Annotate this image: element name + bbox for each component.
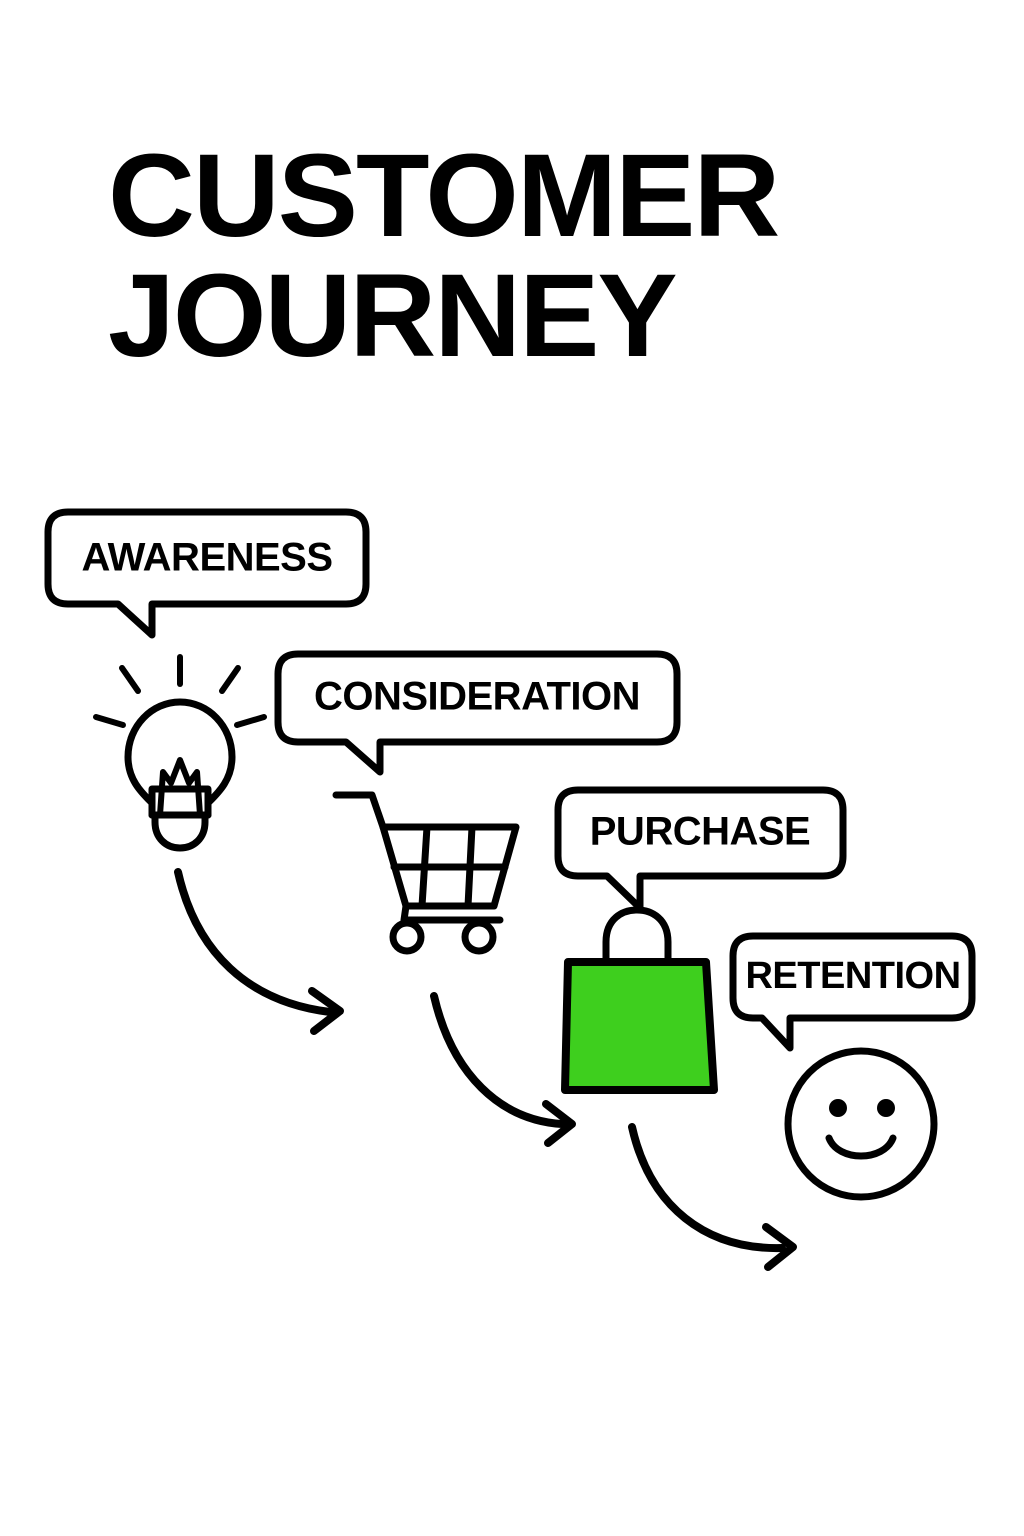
arrow-awareness-to-consideration (178, 872, 340, 1031)
shopping-bag-icon (565, 910, 714, 1090)
speech-bubble-awareness[interactable]: AWARENESS (48, 512, 366, 635)
speech-bubble-purchase-label: PURCHASE (590, 810, 810, 854)
speech-bubble-awareness-label: AWARENESS (81, 536, 332, 580)
smiley-face-icon (788, 1051, 934, 1197)
speech-bubble-retention[interactable]: RETENTION (733, 936, 972, 1048)
journey-diagram: AWARENESS CONSIDERATION PURCHASE RETENTI… (0, 0, 1024, 1536)
arrow-consideration-to-purchase (434, 996, 572, 1143)
speech-bubble-consideration-label: CONSIDERATION (314, 675, 640, 719)
lightbulb-icon (96, 657, 264, 848)
customer-journey-poster: CUSTOMER JOURNEY AWARENESS CONSIDERATION (0, 0, 1024, 1536)
shopping-cart-icon (336, 795, 516, 951)
speech-bubble-retention-label: RETENTION (745, 955, 960, 997)
arrow-purchase-to-retention (632, 1127, 793, 1267)
speech-bubble-purchase[interactable]: PURCHASE (558, 790, 843, 908)
speech-bubble-consideration[interactable]: CONSIDERATION (278, 654, 677, 772)
